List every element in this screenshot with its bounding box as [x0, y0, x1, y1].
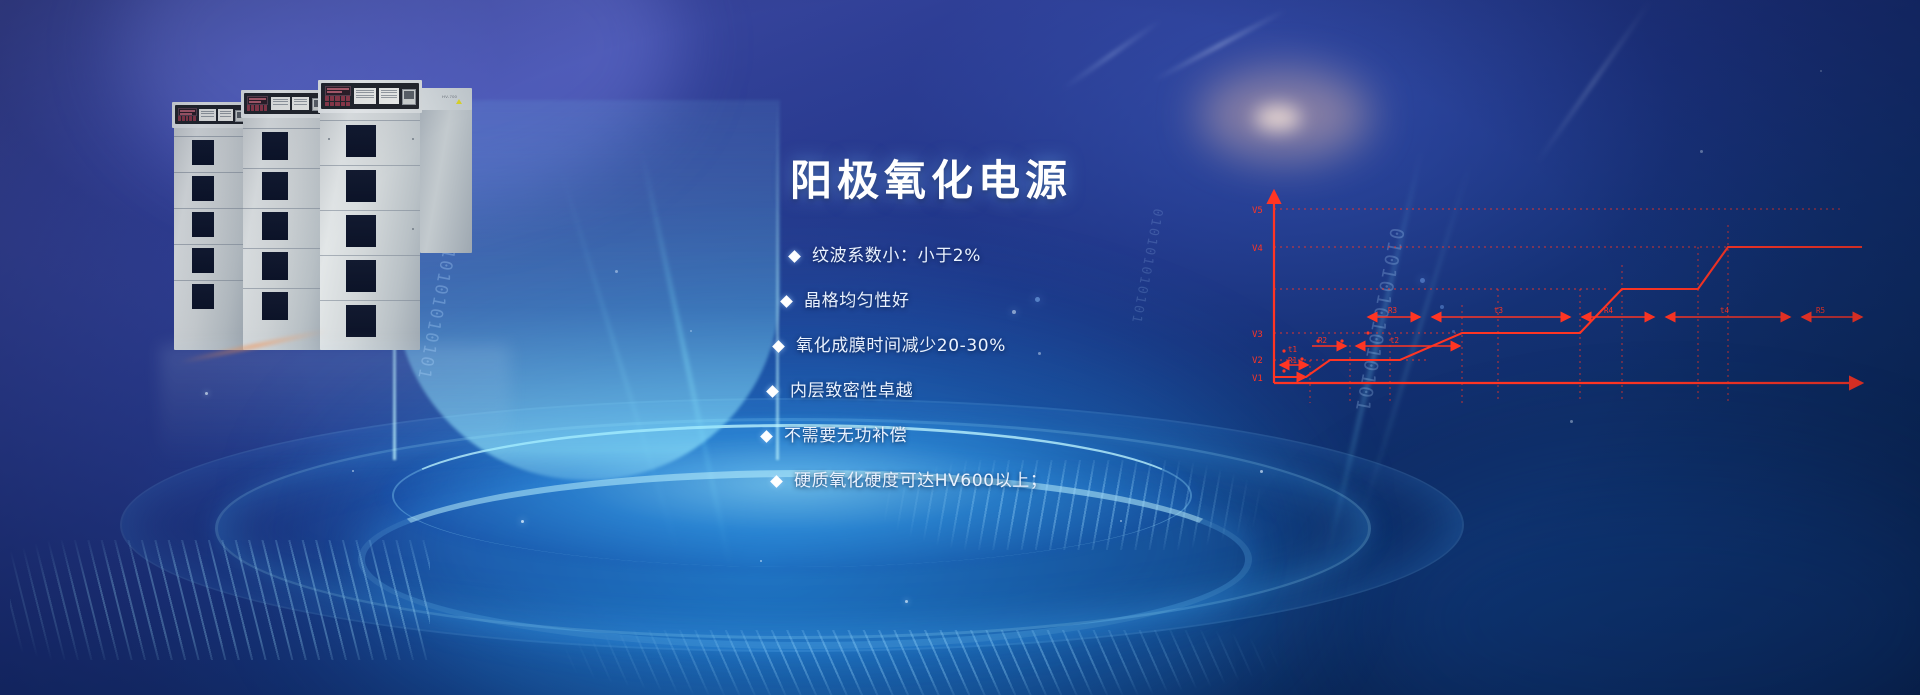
feature-label-1: 纹波系数小：小于2%	[812, 248, 981, 265]
cabinet-front-screw-1	[412, 138, 414, 140]
cabinet-left-vent-1	[192, 140, 214, 165]
cabinet-left-card-2	[218, 109, 233, 121]
feature-item-4: 内层致密性卓越	[768, 383, 1430, 400]
diamond-bullet-icon	[788, 250, 801, 263]
cabinet-left-vent-5	[192, 284, 214, 309]
diamond-bullet-icon	[780, 295, 793, 308]
diamond-bullet-icon	[772, 340, 785, 353]
cabinet-front-seam-4	[320, 255, 420, 256]
ray-4	[640, 150, 732, 571]
cabinet-middle-vent-4	[262, 252, 288, 280]
cabinet-middle-seam-3	[243, 208, 325, 209]
cabinet-left-seam-2	[174, 172, 246, 173]
ray-2	[1062, 19, 1161, 89]
cabinet-left-keypad	[178, 116, 196, 121]
glow-center-flare-core	[1255, 105, 1301, 131]
cabinet-front-lcd	[325, 86, 351, 96]
cabinet-middle-vent-3	[262, 212, 288, 240]
feature-item-2: 晶格均匀性好	[782, 293, 1430, 310]
feature-label-5: 不需要无功补偿	[784, 428, 907, 445]
glow-center-flare	[1200, 70, 1370, 160]
particle	[760, 560, 762, 562]
cabinet-front-keypad	[325, 96, 350, 106]
light-column-edge-right	[776, 100, 779, 460]
banner-stage: 0101010101010101 01010101010101 01010101…	[0, 0, 1920, 695]
feature-label-4: 内层致密性卓越	[790, 383, 913, 400]
cabinet-front-card-1	[354, 88, 376, 104]
cabinet-front-seam-2	[320, 165, 420, 166]
cabinet-middle-panel	[244, 93, 323, 114]
cabinet-reflection	[160, 345, 510, 465]
cabinet-middle-vent-2	[262, 172, 288, 200]
cabinet-left-card-1	[199, 109, 216, 121]
cabinet-left-seam-1	[174, 136, 246, 137]
cabinet-left-seam-5	[174, 280, 246, 281]
cabinet-front-side	[420, 108, 472, 253]
diamond-bullet-icon	[770, 475, 783, 488]
cabinet-front-vent-4	[346, 260, 376, 292]
cabinet-middle-seam-1	[243, 128, 325, 129]
particle	[1700, 150, 1703, 153]
dim-R4: R4	[1604, 306, 1614, 315]
diamond-bullet-icon	[766, 385, 779, 398]
cabinet-front-breaker	[402, 89, 416, 105]
banner-text-block: 阳极氧化电源 纹波系数小：小于2% 晶格均匀性好 氧化成膜时间减少20-30% …	[790, 160, 1430, 518]
feature-label-2: 晶格均匀性好	[804, 293, 910, 310]
cabinet-front-vent-1	[346, 125, 376, 157]
particle	[521, 520, 524, 523]
cabinet-middle-card-2	[292, 97, 309, 110]
particle	[615, 270, 618, 273]
cabinet-front-seam-1	[320, 120, 420, 121]
hatch-bottom	[480, 630, 1360, 695]
cabinet-left-vent-4	[192, 248, 214, 273]
particle	[352, 470, 354, 472]
cabinet-middle-seam-4	[243, 248, 325, 249]
cabinet-front-screw-2	[412, 228, 414, 230]
feature-item-6: 硬质氧化硬度可达HV600以上；	[772, 473, 1430, 490]
cabinet-middle-seam-2	[243, 168, 325, 169]
cabinet-front-card-2	[379, 88, 399, 104]
dim-t3: t3	[1494, 306, 1503, 315]
cabinet-front-seam-3	[320, 210, 420, 211]
ray-3	[1535, 0, 1651, 164]
feature-item-3: 氧化成膜时间减少20-30%	[774, 338, 1430, 355]
cabinet-middle-keypad	[247, 105, 267, 111]
cabinet-left-seam-4	[174, 244, 246, 245]
dim-t4: t4	[1720, 306, 1730, 315]
cabinet-brand-label: HV-700	[442, 94, 457, 99]
hatch-left	[10, 540, 430, 660]
cabinet-middle-vent-5	[262, 292, 288, 320]
cabinet-left-lcd	[178, 108, 197, 116]
cabinet-front-screw-3	[328, 138, 330, 140]
page-title: 阳极氧化电源	[790, 160, 1430, 202]
cabinet-front-vent-5	[346, 305, 376, 337]
cabinet-left-vent-2	[192, 176, 214, 201]
cabinet-front-vent-3	[346, 215, 376, 247]
cabinet-left-panel	[175, 105, 244, 124]
ray-1	[1153, 9, 1286, 81]
glow-bottom-right	[1350, 470, 1920, 695]
warning-triangle-icon	[456, 99, 462, 104]
dim-R5: R5	[1816, 306, 1825, 315]
cabinet-left-vent-3	[192, 212, 214, 237]
cabinet-left-seam-3	[174, 208, 246, 209]
cabinet-middle-card-1	[271, 97, 290, 110]
cabinet-front-vent-2	[346, 170, 376, 202]
cabinet-middle-lcd	[247, 96, 268, 105]
particle	[1120, 520, 1122, 522]
feature-label-3: 氧化成膜时间减少20-30%	[796, 338, 1006, 355]
cabinet-front-panel	[321, 83, 419, 109]
cabinet-middle-seam-5	[243, 288, 325, 289]
product-cabinets: HV-700	[168, 80, 498, 380]
diamond-bullet-icon	[760, 430, 773, 443]
particle	[690, 330, 692, 332]
particle	[1820, 70, 1822, 72]
ray-7	[560, 170, 679, 553]
cabinet-middle-vent-1	[262, 132, 288, 160]
feature-label-6: 硬质氧化硬度可达HV600以上；	[794, 473, 1047, 490]
feature-item-5: 不需要无功补偿	[762, 428, 1430, 445]
particle	[905, 600, 908, 603]
feature-item-1: 纹波系数小：小于2%	[790, 248, 1430, 265]
cabinet-front-seam-5	[320, 300, 420, 301]
